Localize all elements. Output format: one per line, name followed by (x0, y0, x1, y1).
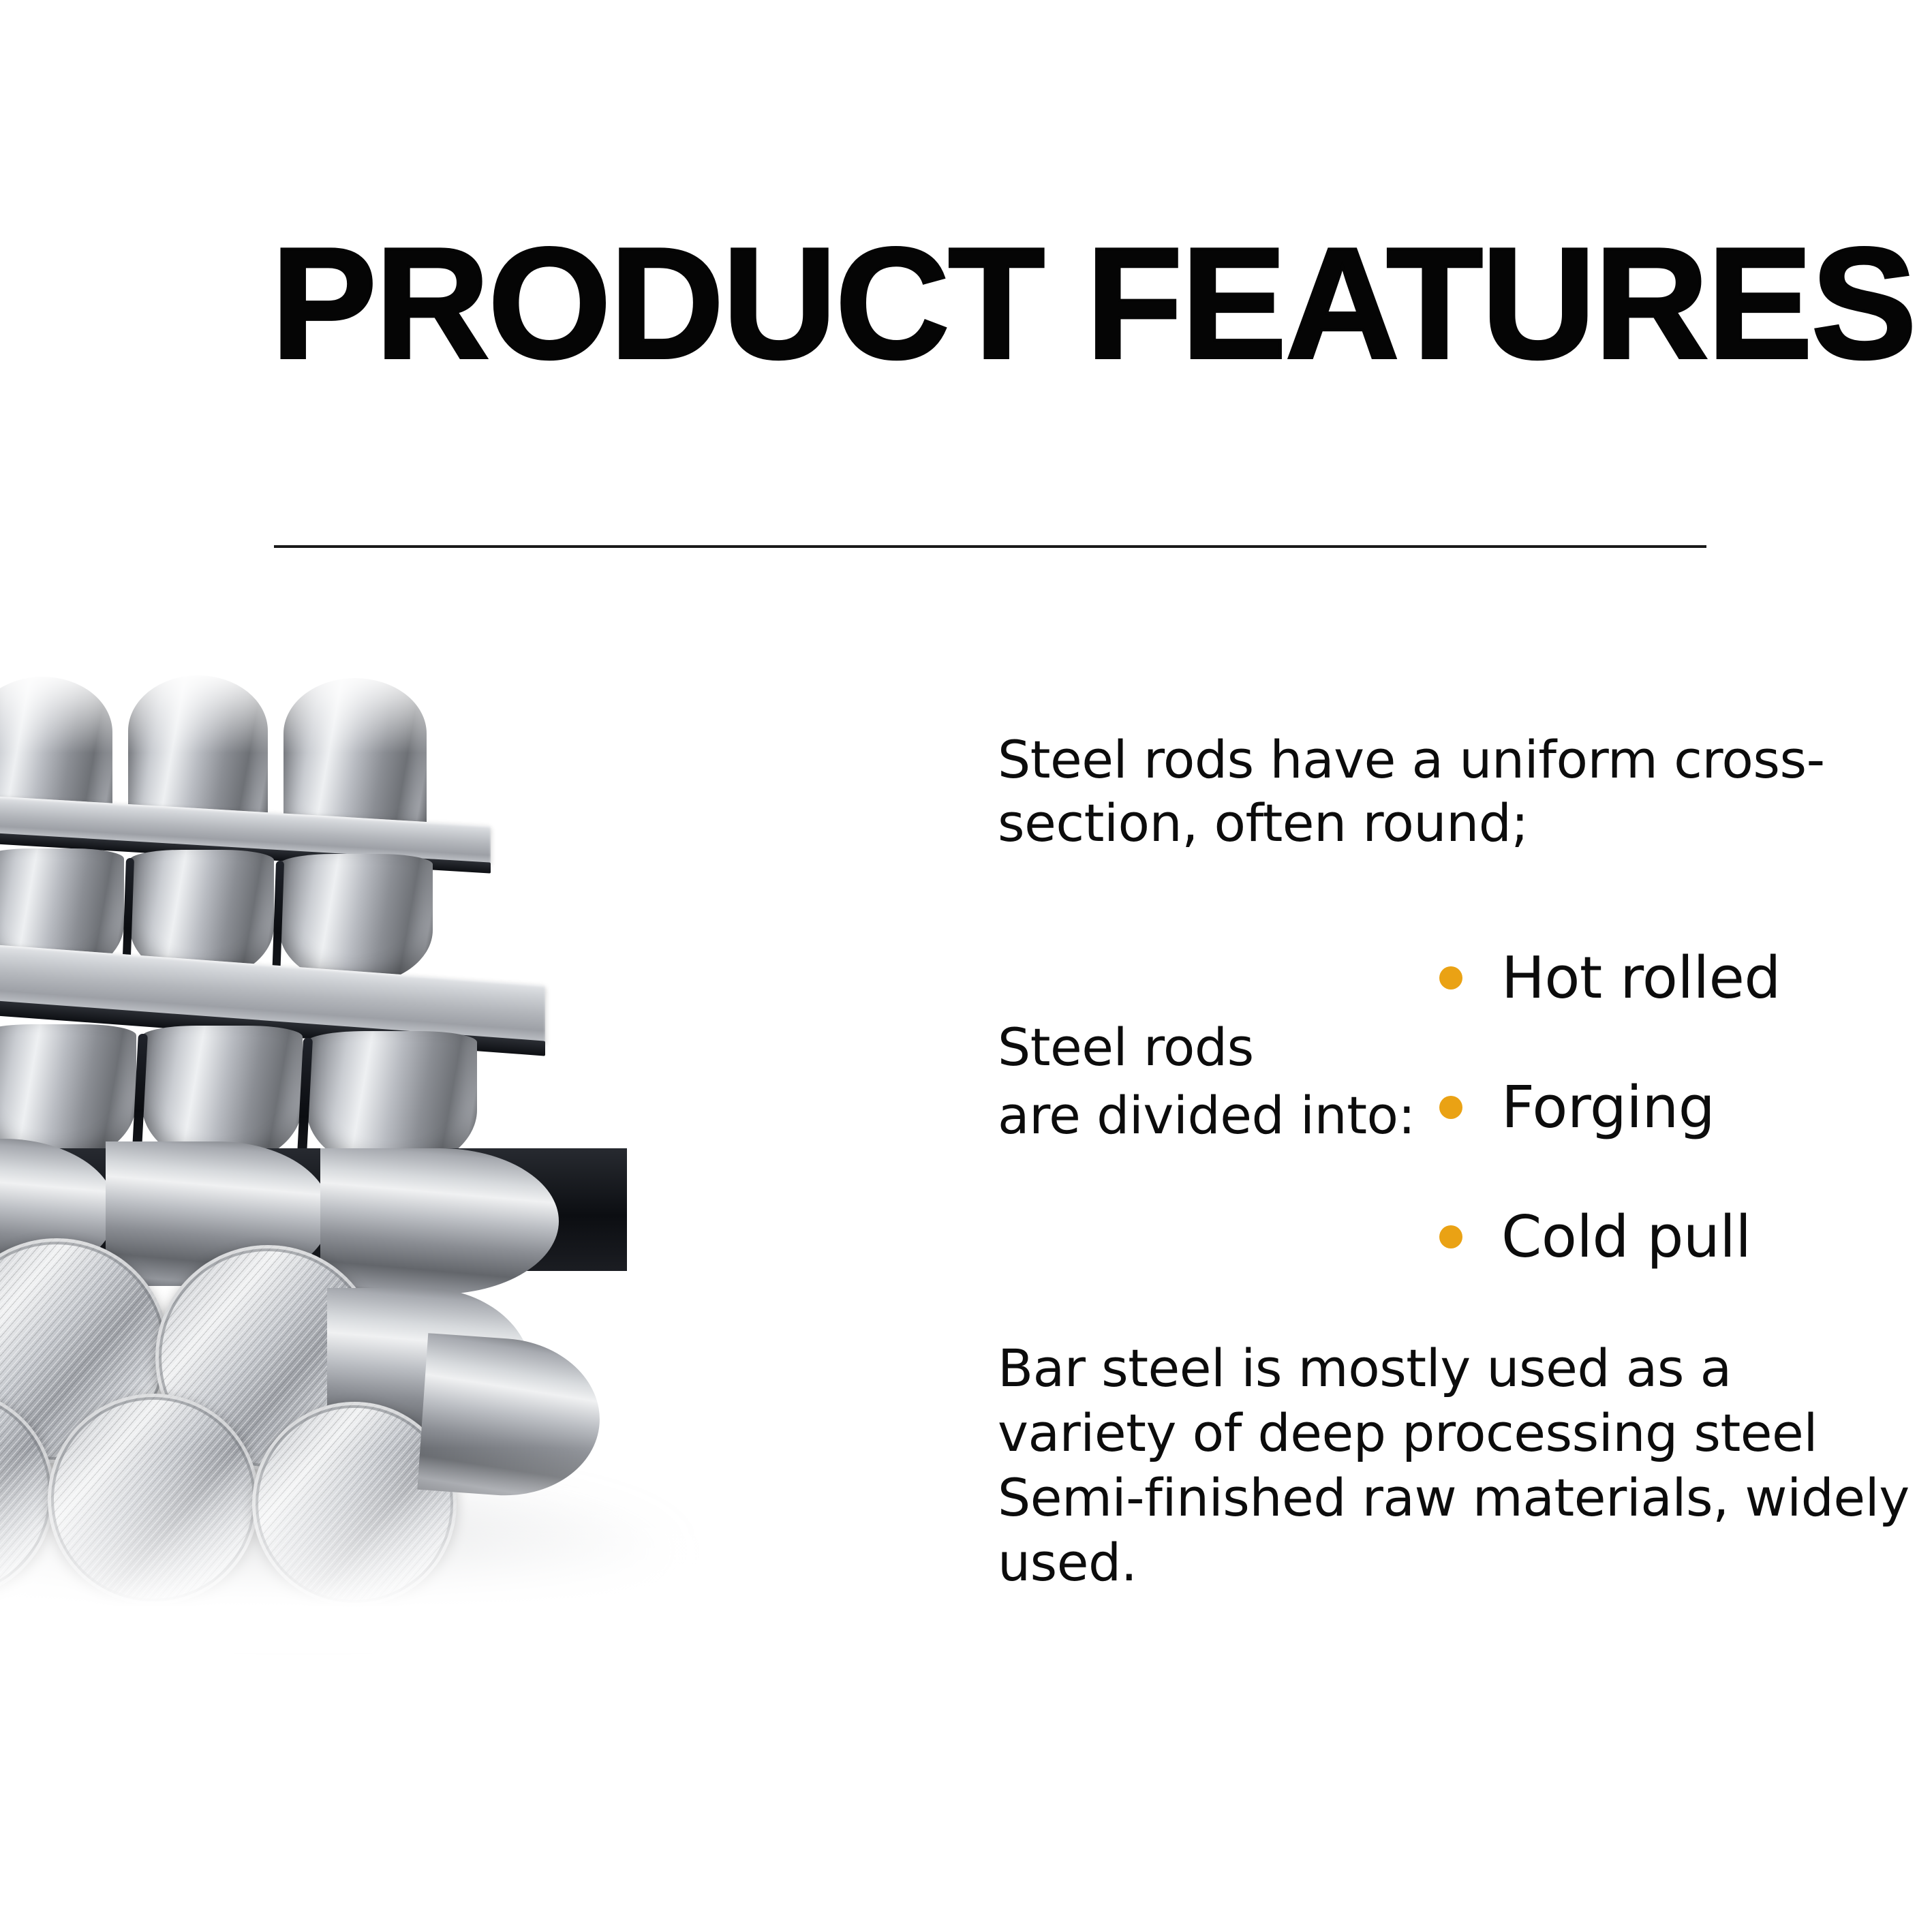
list-item[interactable]: Cold pull (1439, 1172, 1916, 1302)
rod-body-upper (279, 854, 433, 985)
intro-paragraph: Steel rods have a uniform cross-section,… (998, 728, 1904, 855)
rod-cylinder (320, 1148, 559, 1294)
list-item-label: Cold pull (1501, 1208, 1751, 1266)
list-item-label: Forging (1501, 1079, 1715, 1137)
list-item[interactable]: Forging (1439, 1043, 1916, 1172)
bullet-dot-icon (1439, 966, 1462, 990)
steel-rod-type-list: Hot rolled Forging Cold pull (1439, 913, 1916, 1302)
bullet-dot-icon (1439, 1225, 1462, 1248)
title-divider (274, 545, 1706, 548)
closing-paragraph: Bar steel is mostly used as a variety of… (998, 1336, 1911, 1595)
figure-top-fade (0, 671, 886, 753)
divided-into-label: Steel rods are divided into: (998, 1013, 1475, 1150)
steel-rods-image (0, 671, 886, 1653)
list-item[interactable]: Hot rolled (1439, 913, 1916, 1043)
list-item-label: Hot rolled (1501, 949, 1781, 1007)
figure-right-fade (709, 671, 886, 1653)
page-title: PRODUCT FEATURES (271, 225, 1730, 383)
bullet-dot-icon (1439, 1096, 1462, 1119)
steel-rods-canvas (0, 671, 886, 1653)
